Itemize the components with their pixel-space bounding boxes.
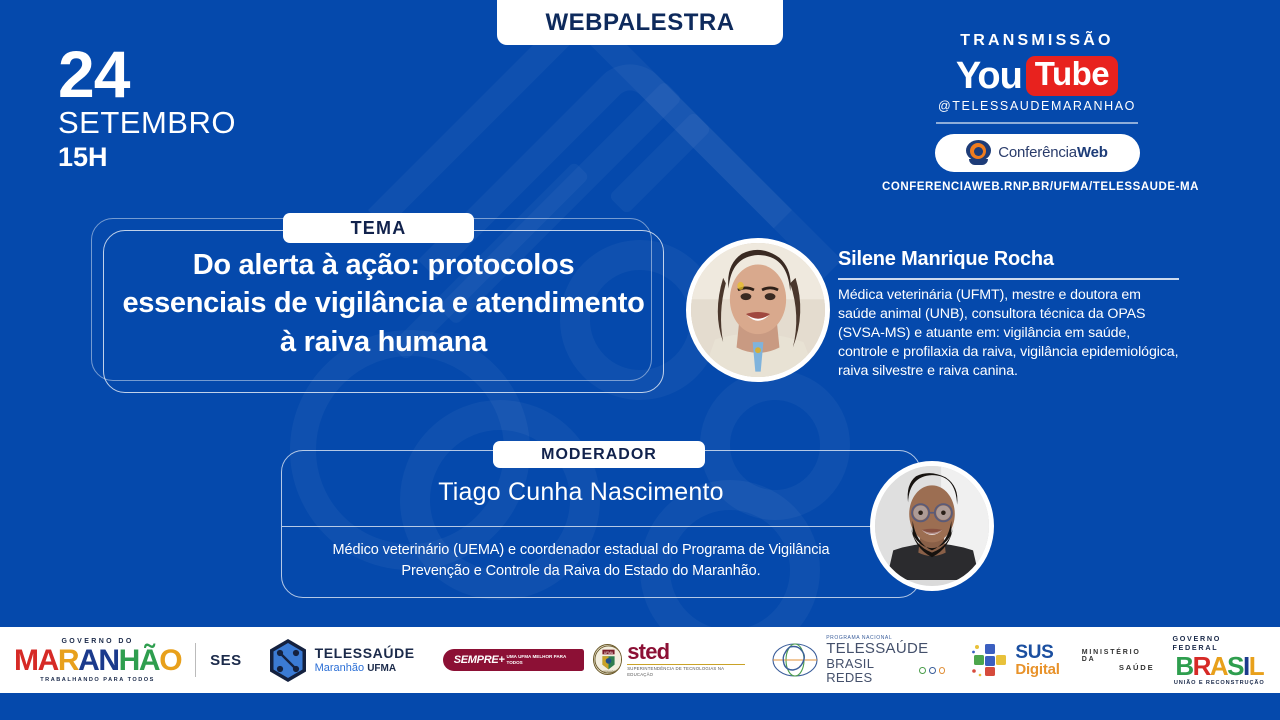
moderator-name: Tiago Cunha Nascimento xyxy=(281,478,881,507)
logo-telessaude-brasil-redes: PROGRAMA NACIONAL TELESSAÚDE BRASIL REDE… xyxy=(771,635,945,684)
webpalestra-badge: WEBPALESTRA xyxy=(497,0,783,45)
sus-line2: Digital xyxy=(1015,662,1059,677)
event-time: 15H xyxy=(58,141,236,173)
sted-sub-text: SUPERINTENDÊNCIA DE TECNOLOGIAS NA EDUCA… xyxy=(627,664,745,677)
tema-label-text: TEMA xyxy=(351,218,407,239)
svg-text:UFMA: UFMA xyxy=(604,651,614,655)
logo-sempre-mais: SEMPRE+ UMA UFMA MELHOR PARA TODOS xyxy=(443,649,584,671)
sempre-word: SEMPRE+ xyxy=(454,654,505,666)
transmission-divider xyxy=(936,122,1138,124)
brasil-globe-icon xyxy=(771,639,819,681)
ministerio-line1: MINISTÉRIO DA xyxy=(1082,649,1155,663)
logo-governo-federal: GOVERNO FEDERAL BRASIL UNIÃO E RECONSTRU… xyxy=(1172,634,1266,686)
sempre-sub: UMA UFMA MELHOR PARA TODOS xyxy=(507,654,577,665)
youtube-icon[interactable]: You Tube xyxy=(882,56,1192,96)
moderator-label-text: MODERADOR xyxy=(541,446,657,464)
logo-sus-digital: SUS Digital xyxy=(971,642,1059,678)
telessaude-ma-text: TELESSAÚDE Maranhão UFMA xyxy=(315,646,415,673)
sted-wordmark: sted SUPERINTENDÊNCIA DE TECNOLOGIAS NA … xyxy=(627,642,745,677)
sus-line1: SUS xyxy=(1015,643,1059,662)
footer-logo-bar: GOVERNO DO MARANHÃO TRABALHANDO PARA TOD… xyxy=(0,627,1280,693)
webpalestra-label: WEBPALESTRA xyxy=(545,9,734,37)
maranhao-wordmark: MARANHÃO xyxy=(14,646,181,676)
moderator-label-badge: MODERADOR xyxy=(493,441,705,468)
sus-cross-icon xyxy=(971,642,1009,678)
tema-label-badge: TEMA xyxy=(283,213,474,243)
moderator-avatar xyxy=(870,461,994,591)
transmission-block: TRANSMISSÃO You Tube @TELESSAUDEMARANHAO… xyxy=(882,32,1192,193)
logo-telessaude-maranhao: TELESSAÚDE Maranhão UFMA xyxy=(268,638,415,683)
conferenciaweb-url[interactable]: CONFERENCIAWEB.RNP.BR/UFMA/TELESSAUDE-MA xyxy=(882,181,1192,193)
telessaude-brasil-text: PROGRAMA NACIONAL TELESSAÚDE BRASIL REDE… xyxy=(826,635,945,684)
brasil-wordmark: BRASIL xyxy=(1175,653,1263,679)
speaker-avatar xyxy=(686,238,830,382)
sempre-badge: SEMPRE+ UMA UFMA MELHOR PARA TODOS xyxy=(443,649,584,671)
governo-bottom-text: UNIÃO E RECONSTRUÇÃO xyxy=(1174,680,1265,686)
telessaude-ma-line1: TELESSAÚDE xyxy=(315,646,415,661)
sus-wordmark: SUS Digital xyxy=(1015,643,1059,678)
governo-top-text: GOVERNO FEDERAL xyxy=(1172,634,1266,652)
event-date-block: 24 SETEMBRO 15H xyxy=(58,44,236,174)
webcam-icon xyxy=(966,140,991,165)
hexagon-network-icon xyxy=(268,638,308,683)
sted-main-text: sted xyxy=(627,642,745,663)
tbr-line3: BRASIL REDES xyxy=(826,657,945,684)
conferenciaweb-button[interactable]: ConferênciaWeb xyxy=(935,134,1140,172)
telessaude-ma-line2: Maranhão UFMA xyxy=(315,662,415,674)
tbr-line2: TELESSAÚDE xyxy=(826,641,945,657)
conferenciaweb-label: ConferênciaWeb xyxy=(998,144,1107,161)
transmission-title: TRANSMISSÃO xyxy=(882,32,1192,50)
tema-title: Do alerta à ação: protocolos essenciais … xyxy=(103,246,664,361)
logo-governo-maranhao: GOVERNO DO MARANHÃO TRABALHANDO PARA TOD… xyxy=(14,638,181,683)
speaker-bio: Médica veterinária (UFMT), mestre e dout… xyxy=(838,286,1182,380)
logo-sted: UFMA MARANHÃO sted SUPERINTENDÊNCIA DE T… xyxy=(593,642,746,677)
speaker-name: Silene Manrique Rocha xyxy=(838,248,1182,271)
event-month: SETEMBRO xyxy=(58,105,236,141)
speaker-portrait-image xyxy=(691,243,825,377)
youtube-handle: @TELESSAUDEMARANHAO xyxy=(882,99,1192,113)
logo-ses: SES xyxy=(210,652,242,669)
event-day: 24 xyxy=(58,44,236,105)
moderator-portrait-image xyxy=(875,466,989,580)
tema-section: TEMA Do alerta à ação: protocolos essenc… xyxy=(91,218,664,393)
moderator-bio: Médico veterinário (UEMA) e coordenador … xyxy=(281,540,881,582)
speaker-divider xyxy=(838,278,1179,280)
moderator-divider xyxy=(282,526,920,527)
svg-text:MARANHÃO: MARANHÃO xyxy=(601,671,615,674)
maranhao-bottom-text: TRABALHANDO PARA TODOS xyxy=(40,677,155,683)
moderator-section: MODERADOR Tiago Cunha Nascimento Médico … xyxy=(281,450,1001,598)
ufma-seal-icon: UFMA MARANHÃO xyxy=(593,644,623,675)
youtube-you-text: You xyxy=(956,57,1022,95)
ministerio-line2: SAÚDE xyxy=(1119,663,1155,672)
logo-ministerio-saude: MINISTÉRIO DA SAÚDE xyxy=(1082,649,1155,672)
speaker-info: Silene Manrique Rocha Médica veterinária… xyxy=(838,248,1182,380)
footer-separator xyxy=(195,643,196,677)
youtube-tube-text: Tube xyxy=(1026,56,1118,96)
